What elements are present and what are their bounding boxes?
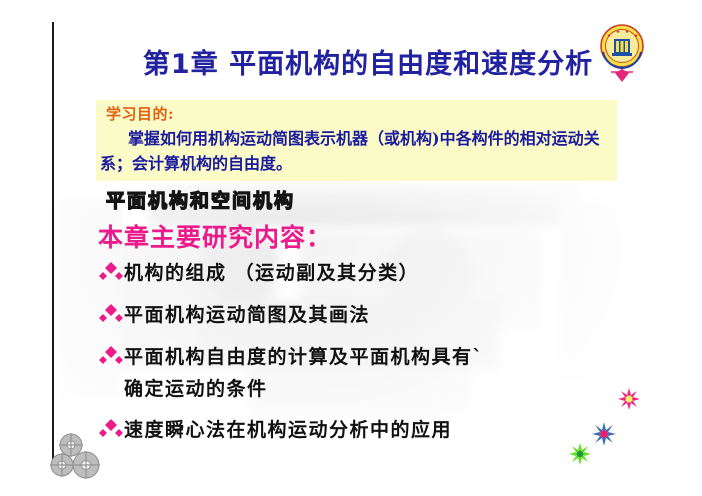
list-item: 机构的组成 （运动副及其分类） <box>98 258 638 290</box>
svg-text:★: ★ <box>607 33 611 39</box>
list-item-label: 速度瞬心法在机构运动分析中的应用 <box>124 415 452 446</box>
diamond-bullet-icon <box>98 344 124 374</box>
svg-text:★: ★ <box>634 33 638 39</box>
list-item-continuation: 确定运动的条件 <box>124 374 638 405</box>
list-item-label: 机构的组成 （运动副及其分类） <box>124 258 419 289</box>
diamond-bullet-icon <box>98 260 124 290</box>
topic-list: 机构的组成 （运动副及其分类） 平面机构运动简图及其画法 <box>98 258 638 457</box>
list-item: 平面机构自由度的计算及平面机构具有` 确定运动的条件 <box>98 342 638 405</box>
list-item: 平面机构运动简图及其画法 <box>98 300 638 332</box>
learning-objective-text: 掌握如何用机构运动简图表示机器（或机构)中各构件的相对运动关系；会计算机构的自由… <box>100 126 614 176</box>
learning-objective-label: 学习目的: <box>106 103 174 124</box>
list-item-label: 平面机构运动简图及其画法 <box>124 300 370 331</box>
section-heading: 本章主要研究内容： <box>98 218 332 254</box>
diamond-bullet-icon <box>98 302 124 332</box>
learning-objective-box: 学习目的: 掌握如何用机构运动简图表示机器（或机构)中各构件的相对运动关系；会计… <box>96 100 617 181</box>
left-vertical-rule <box>52 22 54 462</box>
list-item: 速度瞬心法在机构运动分析中的应用 <box>98 415 638 447</box>
subheading-text: 平面机构和空间机构 <box>106 186 295 213</box>
presentation-slide: 第1章 平面机构的自由度和速度分析 学习目的: 掌握如何用机构运动简图表示机器（… <box>0 0 702 496</box>
list-item-label: 平面机构自由度的计算及平面机构具有` <box>124 342 484 373</box>
slide-title: 第1章 平面机构的自由度和速度分析 <box>108 48 628 82</box>
diamond-bullet-icon <box>98 417 124 447</box>
svg-text:★: ★ <box>616 29 620 35</box>
svg-text:★: ★ <box>625 29 629 35</box>
